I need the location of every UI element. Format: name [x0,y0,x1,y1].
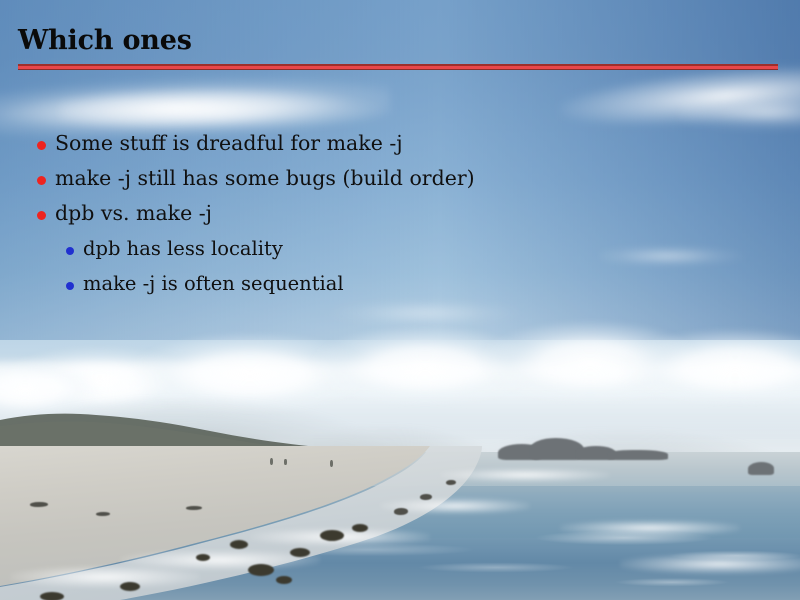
list-item-label: make -j is often sequential [83,272,344,295]
bullet-dot-red-icon [37,211,46,220]
list-item: make -j still has some bugs (build order… [37,166,475,190]
list-item: dpb has less locality [66,237,283,260]
bullet-dot-red-icon [37,176,46,185]
list-item-label: dpb vs. make -j [55,201,212,225]
bullet-dot-blue-icon [66,282,74,290]
presentation-slide: Which ones Some stuff is dreadful for ma… [0,0,800,600]
bullet-dot-blue-icon [66,247,74,255]
list-item-label: make -j still has some bugs (build order… [55,166,475,190]
slide-body-bullet-list: Some stuff is dreadful for make -j make … [0,0,800,600]
list-item: Some stuff is dreadful for make -j [37,131,403,155]
list-item-label: Some stuff is dreadful for make -j [55,131,403,155]
bullet-dot-red-icon [37,141,46,150]
list-item: make -j is often sequential [66,272,344,295]
list-item: dpb vs. make -j [37,201,212,225]
list-item-label: dpb has less locality [83,237,283,260]
